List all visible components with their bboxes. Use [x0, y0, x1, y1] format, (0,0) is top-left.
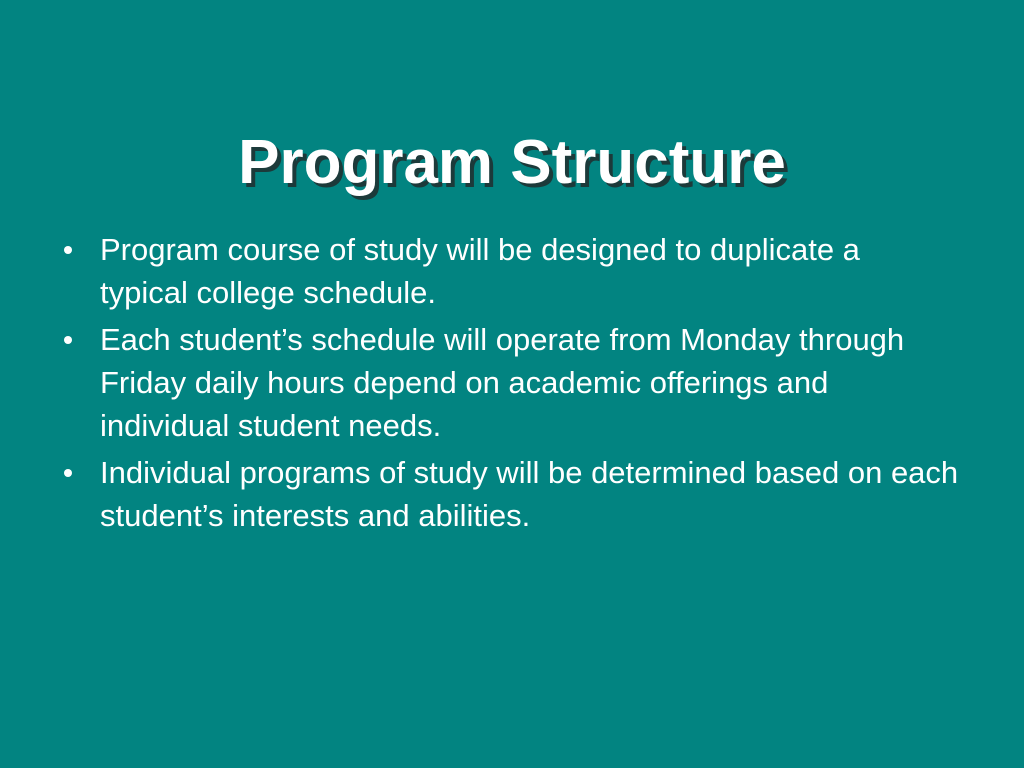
bullet-dot-icon: [64, 469, 72, 477]
list-item-text: Each student’s schedule will operate fro…: [100, 318, 930, 447]
bullet-dot-icon: [64, 246, 72, 254]
list-item: Program course of study will be designed…: [52, 228, 982, 314]
list-item: Individual programs of study will be det…: [52, 451, 982, 537]
list-item-text: Individual programs of study will be det…: [100, 451, 980, 537]
bullet-dot-icon: [64, 336, 72, 344]
list-item: Each student’s schedule will operate fro…: [52, 318, 982, 447]
presentation-slide: Program Structure Program course of stud…: [0, 0, 1024, 768]
bullet-list: Program course of study will be designed…: [52, 228, 982, 541]
page-title: Program Structure: [0, 128, 1024, 197]
list-item-text: Program course of study will be designed…: [100, 228, 890, 314]
